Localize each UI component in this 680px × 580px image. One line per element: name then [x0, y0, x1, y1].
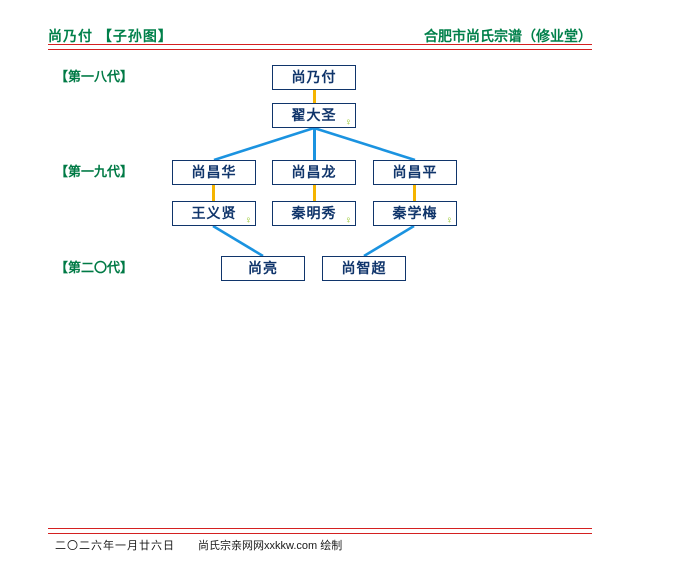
person-name: 秦学梅 [393, 205, 438, 221]
person-box-g18-spouse[interactable]: 翟大圣 ♀ [272, 103, 356, 128]
spouse-link-g19-3 [413, 185, 416, 201]
spouse-link-g19-1 [212, 185, 215, 201]
generation-label-19: 【第一九代】 [55, 161, 133, 180]
person-name: 翟大圣 [292, 107, 337, 123]
person-box-g19-spouse-3[interactable]: 秦学梅 ♀ [373, 201, 457, 226]
generation-label-18: 【第一八代】 [55, 66, 133, 85]
female-symbol-icon: ♀ [446, 216, 454, 226]
spouse-link-g18 [313, 90, 316, 103]
person-box-g19-spouse-1[interactable]: 王义贤 ♀ [172, 201, 256, 226]
person-name: 王义贤 [192, 205, 237, 221]
female-symbol-icon: ♀ [245, 216, 253, 226]
person-name: 尚昌平 [393, 164, 438, 180]
person-name: 尚昌华 [192, 164, 237, 180]
child-link-center [313, 128, 316, 160]
page-title: 尚乃付 【子孙图】 [48, 26, 173, 46]
header-divider [48, 44, 592, 50]
person-box-g20-child-1[interactable]: 尚亮 [221, 256, 305, 281]
footer-divider [48, 528, 592, 534]
female-symbol-icon: ♀ [345, 216, 353, 226]
genealogy-book-title: 合肥市尚氏宗谱（修业堂） [424, 26, 592, 46]
female-symbol-icon: ♀ [345, 118, 353, 128]
person-name: 尚智超 [342, 260, 387, 276]
person-name: 尚昌龙 [292, 164, 337, 180]
footer-credit: 尚氏宗亲网网xxkkw.com 绘制 [198, 537, 342, 553]
person-box-g19-male-1[interactable]: 尚昌华 [172, 160, 256, 185]
person-box-g20-child-2[interactable]: 尚智超 [322, 256, 406, 281]
person-box-g19-male-2[interactable]: 尚昌龙 [272, 160, 356, 185]
person-box-g19-male-3[interactable]: 尚昌平 [373, 160, 457, 185]
person-name: 尚乃付 [292, 69, 337, 85]
generation-label-20: 【第二〇代】 [55, 257, 133, 276]
person-name: 尚亮 [248, 260, 278, 276]
person-name: 秦明秀 [292, 205, 337, 221]
spouse-link-g19-2 [313, 185, 316, 201]
person-box-g18-male[interactable]: 尚乃付 [272, 65, 356, 90]
person-box-g19-spouse-2[interactable]: 秦明秀 ♀ [272, 201, 356, 226]
footer-date: 二〇二六年一月廿六日 [55, 537, 175, 553]
page-footer: 二〇二六年一月廿六日 尚氏宗亲网网xxkkw.com 绘制 [55, 537, 595, 555]
